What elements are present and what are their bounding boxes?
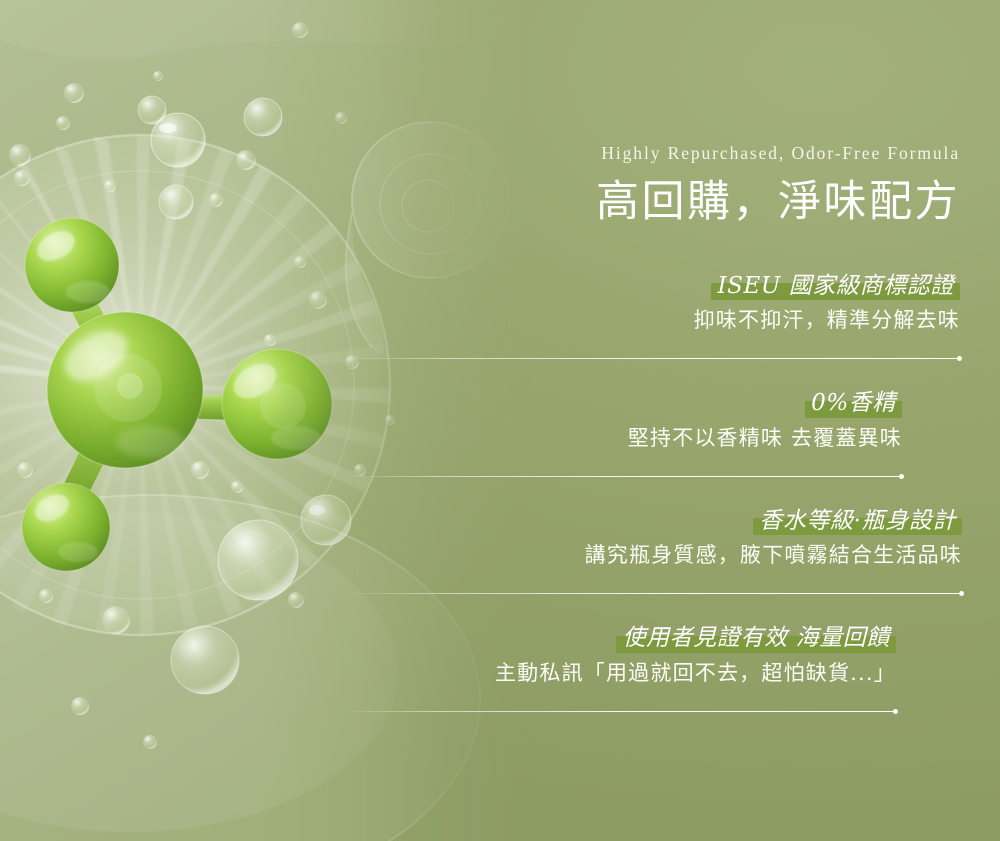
feature-item-2: 0%香精 堅持不以香精味 去覆蓋異味 (340, 389, 902, 476)
feature-divider (340, 476, 902, 477)
feature-title: 使用者見證有效 海量回饋 (616, 624, 896, 653)
banner-stage: Highly Repurchased, Odor-Free Formula 高回… (0, 0, 1000, 841)
content-column: Highly Repurchased, Odor-Free Formula 高回… (340, 0, 960, 841)
divider-dot (893, 709, 898, 714)
feature-subtitle: 講究瓶身質感，腋下噴霧結合生活品味 (340, 539, 962, 569)
divider-dot (899, 474, 904, 479)
feature-subtitle: 抑味不抑汗，精準分解去味 (340, 304, 960, 334)
feature-item-1: ISEU 國家級商標認證 抑味不抑汗，精準分解去味 (340, 272, 960, 359)
page-title: 高回購，淨味配方 (340, 176, 960, 230)
eyebrow-text: Highly Repurchased, Odor-Free Formula (340, 143, 960, 164)
feature-title: 0%香精 (805, 389, 902, 418)
divider-dot (957, 356, 962, 361)
feature-divider (340, 358, 960, 359)
feature-title: ISEU 國家級商標認證 (711, 272, 960, 301)
feature-divider (340, 593, 962, 594)
feature-item-4: 使用者見證有效 海量回饋 主動私訊「用過就回不去，超怕缺貨...」 (340, 624, 896, 711)
feature-title: 香水等級·瓶身設計 (753, 507, 962, 536)
feature-list: ISEU 國家級商標認證 抑味不抑汗，精準分解去味 0%香精 堅持不以香精味 去… (340, 272, 960, 712)
feature-divider (340, 711, 896, 712)
feature-subtitle: 堅持不以香精味 去覆蓋異味 (340, 422, 902, 452)
feature-subtitle: 主動私訊「用過就回不去，超怕缺貨...」 (340, 657, 896, 687)
divider-dot (959, 591, 964, 596)
feature-item-3: 香水等級·瓶身設計 講究瓶身質感，腋下噴霧結合生活品味 (340, 507, 962, 594)
